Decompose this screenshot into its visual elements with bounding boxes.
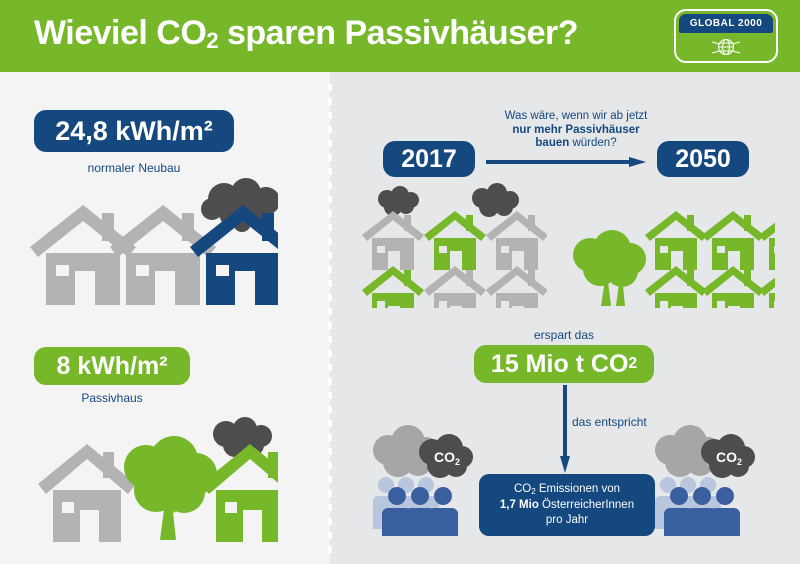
globe-icon	[676, 35, 776, 59]
smoke-cloud-icon-2	[472, 183, 519, 217]
house-green-grid	[645, 266, 707, 308]
people-dark-group	[382, 487, 458, 536]
neubau-caption: normaler Neubau	[34, 161, 234, 175]
header-bar: Wieviel CO2 sparen Passivhäuser? GLOBAL …	[0, 0, 800, 72]
house-green-grid	[759, 211, 775, 270]
house-green-grid	[759, 266, 775, 308]
year-to-label: 2050	[675, 145, 731, 174]
house-grid-gray	[486, 211, 547, 270]
illustration-people-co2-left: CO2	[366, 424, 474, 536]
house-green-grid	[702, 211, 764, 270]
house-green-grid	[702, 266, 764, 308]
logo-band: GLOBAL 2000	[679, 14, 773, 33]
illustration-people-co2-right: CO2	[648, 424, 756, 536]
savings-value-subscript: 2	[628, 355, 637, 373]
page-title-rest: sparen Passivhäuser?	[218, 14, 578, 52]
house-grid-green	[362, 266, 424, 308]
tree-icon	[124, 436, 217, 540]
smoke-cloud-icon-1	[378, 186, 419, 216]
year-from-badge: 2017	[383, 141, 475, 177]
year-from-label: 2017	[401, 145, 457, 174]
panel-divider	[328, 84, 332, 554]
neubau-value: 24,8 kWh/m²	[55, 116, 213, 147]
illustration-passive-houses	[28, 412, 278, 547]
info-line-2-bold: 1,7 Mio	[500, 499, 539, 511]
page-title-subscript: 2	[206, 28, 218, 53]
illustration-passive-houses-2050	[560, 183, 775, 308]
info-line-1-pre: CO	[514, 483, 531, 495]
people-dark-group	[664, 487, 740, 536]
question-line-1: Was wäre, wenn wir ab jetzt	[505, 110, 648, 122]
page-title: Wieviel CO2 sparen Passivhäuser?	[34, 14, 578, 54]
house-green	[201, 444, 278, 542]
timeline-arrow-icon	[486, 157, 646, 167]
logo-text: GLOBAL 2000	[690, 18, 763, 29]
illustration-mixed-houses-2017	[362, 183, 547, 308]
house-blue	[190, 205, 278, 305]
house-grid-gray	[424, 266, 486, 308]
house-grid-gray	[486, 266, 547, 308]
global-2000-logo: GLOBAL 2000	[674, 9, 778, 63]
info-line-2-rest: ÖsterreicherInnen	[539, 499, 634, 511]
emissions-info-box: CO2 Emissionen von 1,7 Mio ÖsterreicherI…	[479, 474, 655, 536]
savings-badge: 15 Mio t CO2	[474, 345, 654, 383]
question-text: Was wäre, wenn wir ab jetzt nur mehr Pas…	[478, 110, 674, 151]
question-bold-2: bauen	[535, 137, 569, 149]
infographic-page: Wieviel CO2 sparen Passivhäuser? GLOBAL …	[0, 0, 800, 564]
question-bold-1: nur mehr Passivhäuser	[512, 124, 639, 136]
info-line-1-post: Emissionen von	[536, 483, 620, 495]
erspart-label: erspart das	[474, 328, 654, 342]
savings-value: 15 Mio t CO	[491, 350, 629, 379]
neubau-value-badge: 24,8 kWh/m²	[34, 110, 234, 152]
page-title-main: Wieviel CO	[34, 14, 206, 52]
house-grid-gray	[362, 211, 424, 270]
question-rest: würden?	[569, 137, 616, 149]
tree-group-icon	[573, 230, 646, 306]
passivhaus-value-badge: 8 kWh/m²	[34, 347, 190, 385]
down-arrow-icon	[560, 385, 570, 473]
illustration-normal-houses	[28, 175, 278, 310]
house-green-grid	[645, 211, 707, 270]
passivhaus-caption: Passivhaus	[34, 391, 190, 405]
passivhaus-value: 8 kWh/m²	[56, 352, 167, 381]
house-grid-green	[424, 211, 486, 270]
house-gray-left	[38, 444, 136, 542]
info-line-3: pro Jahr	[546, 514, 588, 526]
